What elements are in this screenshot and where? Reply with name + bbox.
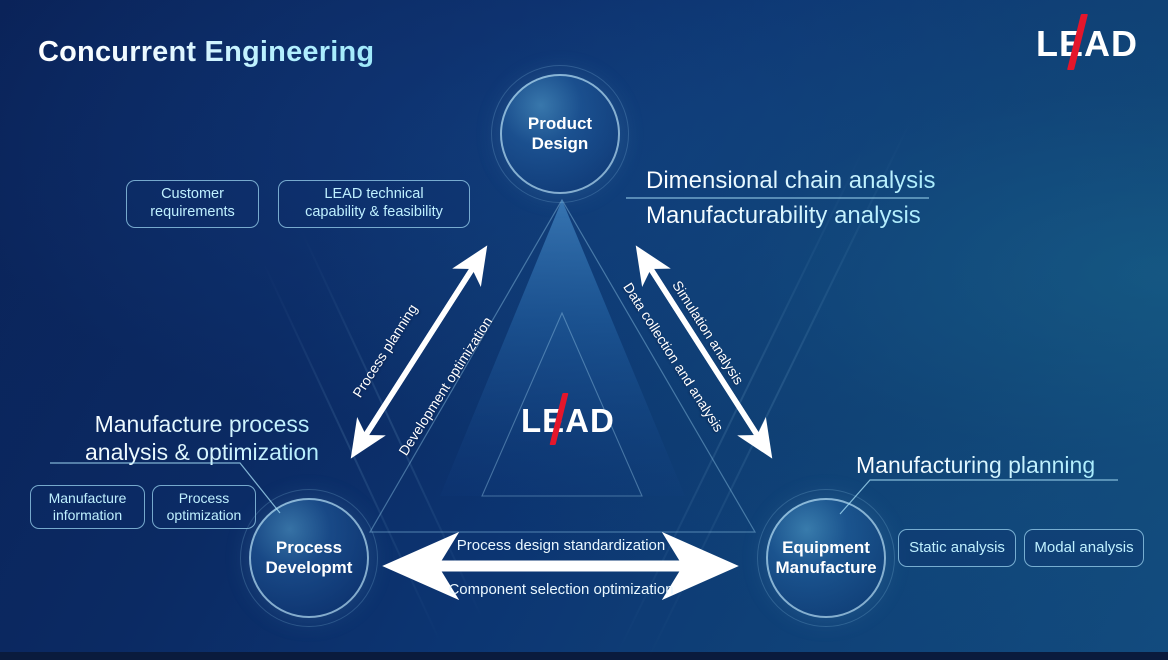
slide-background: Concurrent Engineering LEAD LEAD	[0, 0, 1168, 652]
pill-modal-analysis[interactable]: Modal analysis	[1024, 529, 1144, 567]
pill-static-analysis-text: Static analysis	[909, 539, 1005, 557]
lead-logo-center: LEAD	[521, 404, 615, 437]
pill-process-optimization-line2: optimization	[167, 507, 242, 524]
heading-manufacturability-analysis-text: Manufacturability analysis	[646, 202, 921, 229]
heading-manufacturing-planning-text: Manufacturing planning	[856, 452, 1095, 478]
heading-dimensional-chain-analysis: Dimensional chain analysis	[646, 166, 935, 195]
node-product-design-line2: Design	[528, 134, 592, 154]
pill-lead-technical-capability-line2: capability & feasibility	[305, 204, 443, 222]
arrow-label-component-selection-optimization: Component selection optimization	[382, 581, 740, 598]
node-process-development-line1: Process	[266, 538, 353, 558]
heading-manufacture-process-analysis-line1: Manufacture process	[52, 410, 352, 438]
arrow-right-diagonal	[625, 245, 785, 460]
heading-manufacturability-analysis: Manufacturability analysis	[646, 201, 921, 230]
node-product-design[interactable]: Product Design	[500, 74, 620, 194]
node-product-design-line1: Product	[528, 114, 592, 134]
pill-static-analysis[interactable]: Static analysis	[898, 529, 1016, 567]
heading-dimensional-chain-analysis-text: Dimensional chain analysis	[646, 167, 935, 194]
pill-manufacture-information[interactable]: Manufacture information	[30, 485, 145, 529]
heading-top-right-separator	[626, 196, 931, 200]
node-equipment-manufacture-line2: Manufacture	[775, 558, 876, 578]
arrow-label-process-design-standardization-text: Process design standardization	[457, 537, 665, 554]
heading-manufacture-process-analysis: Manufacture process analysis & optimizat…	[52, 410, 352, 466]
pill-manufacture-information-line2: information	[49, 507, 127, 524]
node-equipment-manufacture-line1: Equipment	[775, 538, 876, 558]
pill-customer-requirements-line1: Customer	[150, 186, 235, 204]
heading-right-connector-line	[838, 478, 1120, 528]
pill-lead-technical-capability[interactable]: LEAD technical capability & feasibility	[278, 180, 470, 228]
pill-process-optimization[interactable]: Process optimization	[152, 485, 256, 529]
pill-manufacture-information-line1: Manufacture	[49, 490, 127, 507]
pill-customer-requirements[interactable]: Customer requirements	[126, 180, 259, 228]
arrow-label-process-design-standardization: Process design standardization	[402, 537, 720, 554]
pill-lead-technical-capability-line1: LEAD technical	[305, 186, 443, 204]
arrow-label-component-selection-optimization-text: Component selection optimization	[448, 581, 673, 598]
pill-process-optimization-line1: Process	[167, 490, 242, 507]
node-process-development-line2: Developmt	[266, 558, 353, 578]
pill-modal-analysis-text: Modal analysis	[1034, 539, 1133, 557]
lead-logo-center-text: LEAD	[521, 402, 615, 439]
heading-manufacturing-planning: Manufacturing planning	[856, 451, 1095, 479]
lead-logo-header: LEAD	[1036, 26, 1138, 62]
page-title: Concurrent Engineering	[38, 36, 374, 69]
pill-customer-requirements-line2: requirements	[150, 204, 235, 222]
lead-logo-text: LEAD	[1036, 23, 1138, 64]
